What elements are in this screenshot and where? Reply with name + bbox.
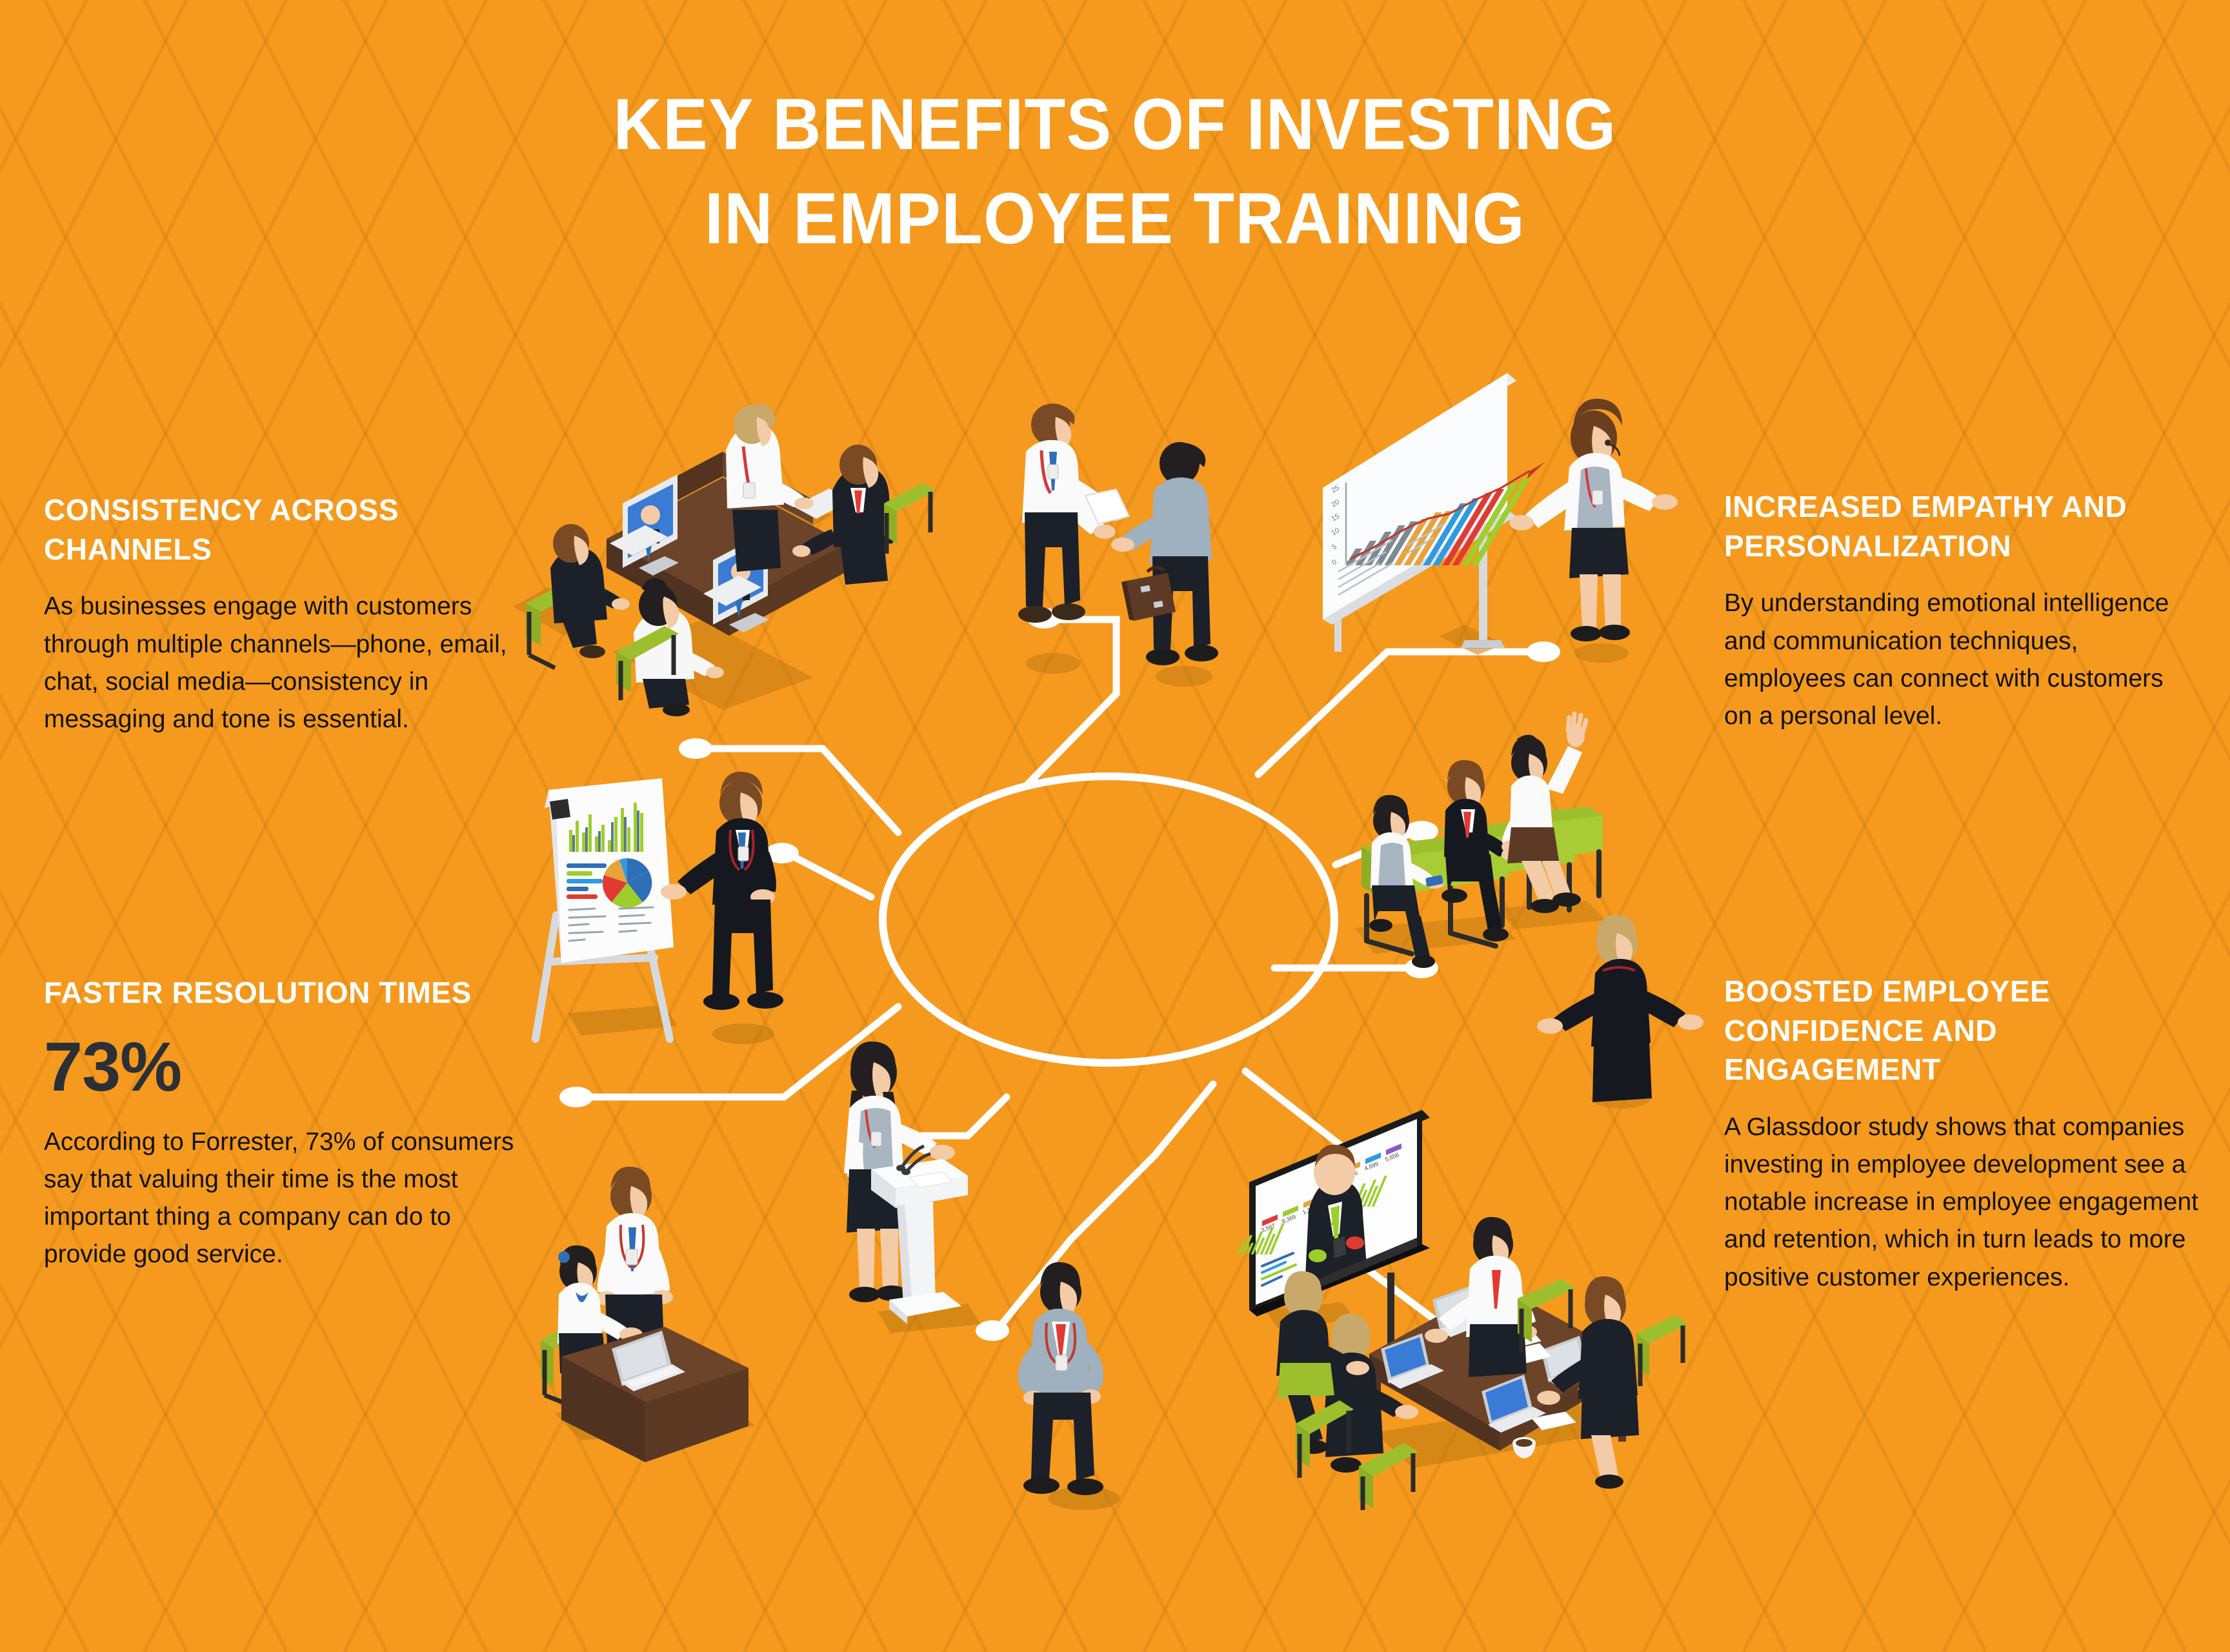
person-presenter — [1509, 399, 1678, 641]
callout-heading: INCREASED EMPATHY AND PERSONALIZATION — [1724, 487, 2189, 565]
briefcase-icon — [1121, 567, 1176, 621]
scene-document-handover — [1007, 387, 1265, 684]
stat-percentage: 73% — [44, 1032, 515, 1102]
infographic-canvas: KEY BENEFITS OF INVESTING IN EMPLOYEE TR… — [0, 0, 2230, 1652]
person-employee — [1018, 403, 1129, 623]
scene-whiteboard-presentation: 25 20 15 10 5 0 — [1316, 361, 1716, 665]
scene-podium-speaker — [807, 1032, 1026, 1368]
presentation-board: 25 20 15 10 5 0 — [1323, 373, 1545, 625]
callout-body: A Glassdoor study shows that companies i… — [1724, 1109, 2208, 1296]
callout-heading: CONSISTENCY ACROSS CHANNELS — [44, 490, 508, 569]
title-line-1: KEY BENEFITS OF INVESTING — [78, 77, 2152, 172]
flipchart-pie-chart — [603, 858, 652, 908]
coffee-cup — [1512, 1437, 1536, 1458]
callout-increased-empathy: INCREASED EMPATHY AND PERSONALIZATION By… — [1724, 487, 2189, 735]
scene-standing-manager — [994, 1258, 1168, 1516]
scene-call-center — [510, 374, 936, 703]
callout-heading: FASTER RESOLUTION TIMES — [44, 973, 515, 1012]
person-manager — [1018, 1262, 1103, 1495]
callout-boosted-confidence: BOOSTED EMPLOYEE CONFIDENCE AND ENGAGEME… — [1724, 972, 2208, 1296]
scene-flipchart-presentation — [516, 768, 826, 1071]
flipchart-sheet — [545, 778, 674, 963]
person-presenter — [1537, 915, 1703, 1102]
scene-conference-meeting: 3,597 8,369 1,236 — [1226, 1097, 1691, 1510]
callout-heading: BOOSTED EMPLOYEE CONFIDENCE AND ENGAGEME… — [1724, 972, 2208, 1089]
callout-consistency: CONSISTENCY ACROSS CHANNELS As businesse… — [44, 490, 508, 738]
scene-seated-audience — [1329, 703, 1716, 1116]
scene-desk-coaching — [536, 1155, 819, 1491]
person-presenter — [661, 772, 783, 1010]
chair — [1636, 1315, 1688, 1386]
callout-body: By understanding emotional intelligence … — [1724, 585, 2189, 734]
callout-body: According to Forrester, 73% of consumers… — [44, 1123, 515, 1273]
page-title: KEY BENEFITS OF INVESTING IN EMPLOYEE TR… — [0, 77, 2230, 265]
raised-hand-icon — [1567, 714, 1586, 747]
callout-faster-resolution: FASTER RESOLUTION TIMES 73% According to… — [44, 973, 515, 1273]
person-visitor — [1111, 442, 1218, 665]
callout-body: As businesses engage with customers thro… — [44, 588, 508, 738]
title-line-2: IN EMPLOYEE TRAINING — [78, 172, 2152, 266]
